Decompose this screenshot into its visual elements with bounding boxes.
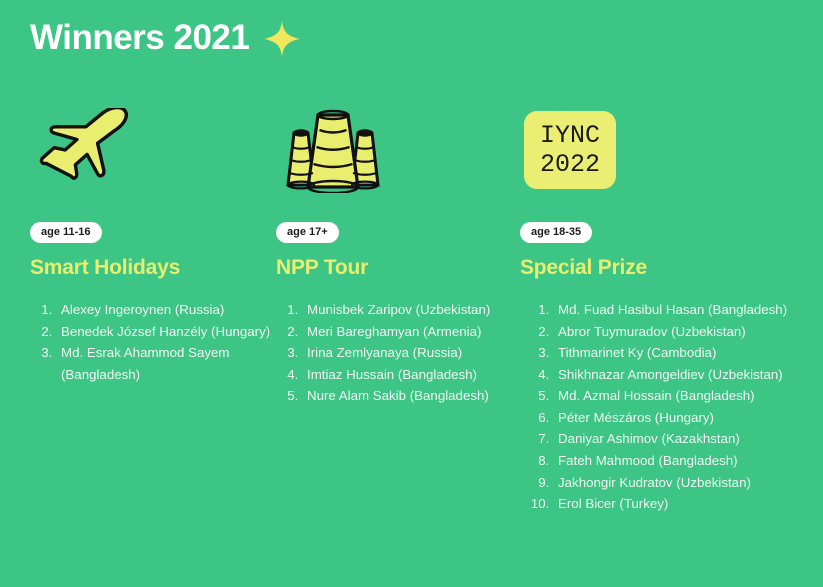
list-item: Md. Esrak Ahammod Sayem (Bangladesh) [56,342,276,385]
winners-list: Munisbek Zaripov (Uzbekistan) Meri Bareg… [276,299,520,407]
list-item: Md. Azmal Hossain (Bangladesh) [553,385,805,407]
winners-list: Alexey Ingeroynen (Russia) Benedek Józse… [30,299,276,385]
page-title: Winners 2021 [30,19,249,58]
iync-badge-line-2: 2022 [540,152,600,177]
category-icon-wrap [276,100,520,200]
category-title: Special Prize [520,255,805,280]
list-item: Abror Tuymuradov (Uzbekistan) [553,321,805,343]
category-icon-wrap [30,100,276,200]
list-item: Munisbek Zaripov (Uzbekistan) [302,299,520,321]
age-badge: age 18-35 [520,222,592,243]
category-column-special-prize: IYNC 2022 age 18-35 Special Prize Md. Fu… [520,100,805,515]
sparkle-star-icon [263,18,301,58]
age-badge: age 17+ [276,222,339,243]
list-item: Benedek József Hanzély (Hungary) [56,321,276,343]
list-item: Alexey Ingeroynen (Russia) [56,299,276,321]
list-item: Imtiaz Hussain (Bangladesh) [302,364,520,386]
category-title: NPP Tour [276,255,520,280]
list-item: Erol Bicer (Turkey) [553,493,805,515]
category-title: Smart Holidays [30,255,276,280]
category-column-npp-tour: age 17+ NPP Tour Munisbek Zaripov (Uzbek… [276,100,520,407]
list-item: Jakhongir Kudratov (Uzbekistan) [553,472,805,494]
age-badge: age 11-16 [30,222,102,243]
iync-badge-line-1: IYNC [540,123,600,148]
category-column-smart-holidays: age 11-16 Smart Holidays Alexey Ingeroyn… [30,100,276,385]
list-item: Daniyar Ashimov (Kazakhstan) [553,428,805,450]
page-header: Winners 2021 [30,18,301,58]
list-item: Shikhnazar Amongeldiev (Uzbekistan) [553,364,805,386]
list-item: Md. Fuad Hasibul Hasan (Bangladesh) [553,299,805,321]
list-item: Fateh Mahmood (Bangladesh) [553,450,805,472]
list-item: Meri Bareghamyan (Armenia) [302,321,520,343]
winners-poster: Winners 2021 age 11-16 Smart Holiday [0,0,823,587]
iync-2022-badge-icon: IYNC 2022 [524,111,616,189]
list-item: Péter Mészáros (Hungary) [553,407,805,429]
category-columns: age 11-16 Smart Holidays Alexey Ingeroyn… [30,100,805,515]
winners-list: Md. Fuad Hasibul Hasan (Bangladesh) Abro… [520,299,805,514]
airplane-icon [30,108,140,192]
list-item: Tithmarinet Ky (Cambodia) [553,342,805,364]
category-icon-wrap: IYNC 2022 [520,100,805,200]
list-item: Irina Zemlyanaya (Russia) [302,342,520,364]
cooling-towers-icon [276,107,388,193]
list-item: Nure Alam Sakib (Bangladesh) [302,385,520,407]
